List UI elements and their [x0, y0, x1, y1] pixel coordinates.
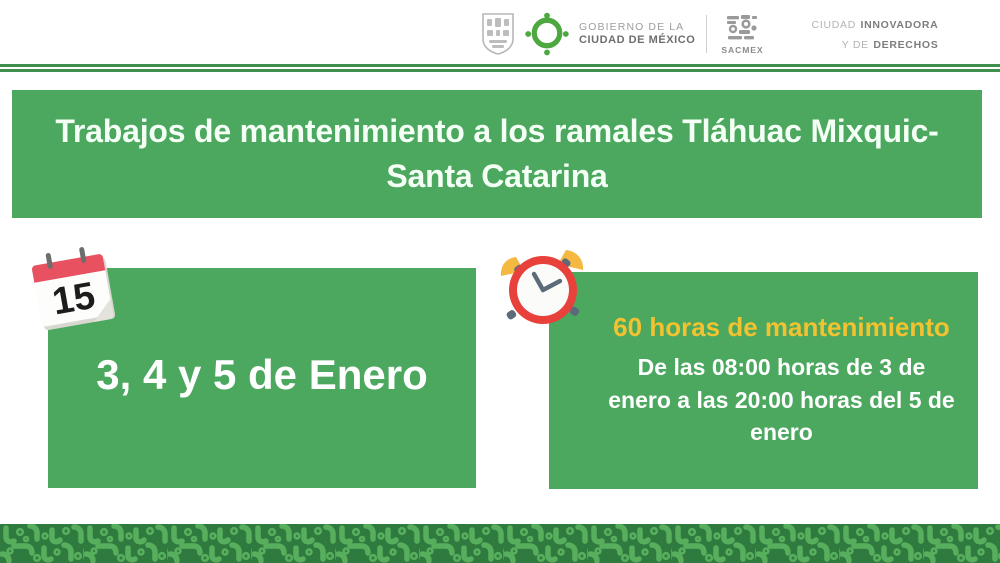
- calendar-icon: 15: [21, 236, 128, 343]
- alarm-clock-icon: [494, 239, 592, 335]
- slogan-line-2-light: Y DE: [842, 39, 869, 51]
- date-card-text: 3, 4 y 5 de Enero: [96, 347, 428, 402]
- gobierno-line-1: GOBIERNO DE LA: [579, 21, 695, 33]
- header-logo-group: GOBIERNO DE LA CIUDAD DE MÉXICO: [482, 11, 938, 57]
- title-card: Trabajos de mantenimiento a los ramales …: [12, 90, 982, 218]
- slogan-line-2: Y DE DERECHOS: [842, 34, 939, 54]
- header-rule-upper: [0, 64, 1000, 67]
- page-title: Trabajos de mantenimiento a los ramales …: [52, 109, 942, 200]
- slogan-line-1-bold: INNOVADORA: [860, 19, 938, 31]
- duration-heading: 60 horas de mantenimiento: [613, 310, 950, 345]
- sacmex-aztec-glyph-icon: [725, 13, 759, 43]
- duration-body: De las 08:00 horas de 3 de enero a las 2…: [607, 351, 956, 449]
- gobierno-line-2: CIUDAD DE MÉXICO: [579, 34, 695, 47]
- header-rule-lower: [0, 69, 1000, 72]
- sacmex-label: SACMEX: [721, 45, 763, 55]
- header-divider: [706, 15, 707, 53]
- sacmex-logo-group: SACMEX: [721, 13, 763, 55]
- duration-card: 60 horas de mantenimiento De las 08:00 h…: [549, 272, 978, 489]
- page-header: GOBIERNO DE LA CIUDAD DE MÉXICO: [0, 0, 1000, 64]
- city-slogan: CIUDAD INNOVADORA Y DE DERECHOS: [812, 14, 939, 55]
- slogan-line-1: CIUDAD INNOVADORA: [812, 14, 939, 34]
- gobierno-wordmark: GOBIERNO DE LA CIUDAD DE MÉXICO: [579, 21, 695, 46]
- slogan-line-1-light: CIUDAD: [812, 19, 856, 31]
- cdmx-coat-of-arms-icon: [482, 13, 514, 55]
- decorative-pattern-band: [0, 524, 1000, 563]
- cdmx-logo-icon: [524, 12, 570, 56]
- slogan-line-2-bold: DERECHOS: [873, 39, 938, 51]
- calendar-day-number: 15: [49, 275, 98, 324]
